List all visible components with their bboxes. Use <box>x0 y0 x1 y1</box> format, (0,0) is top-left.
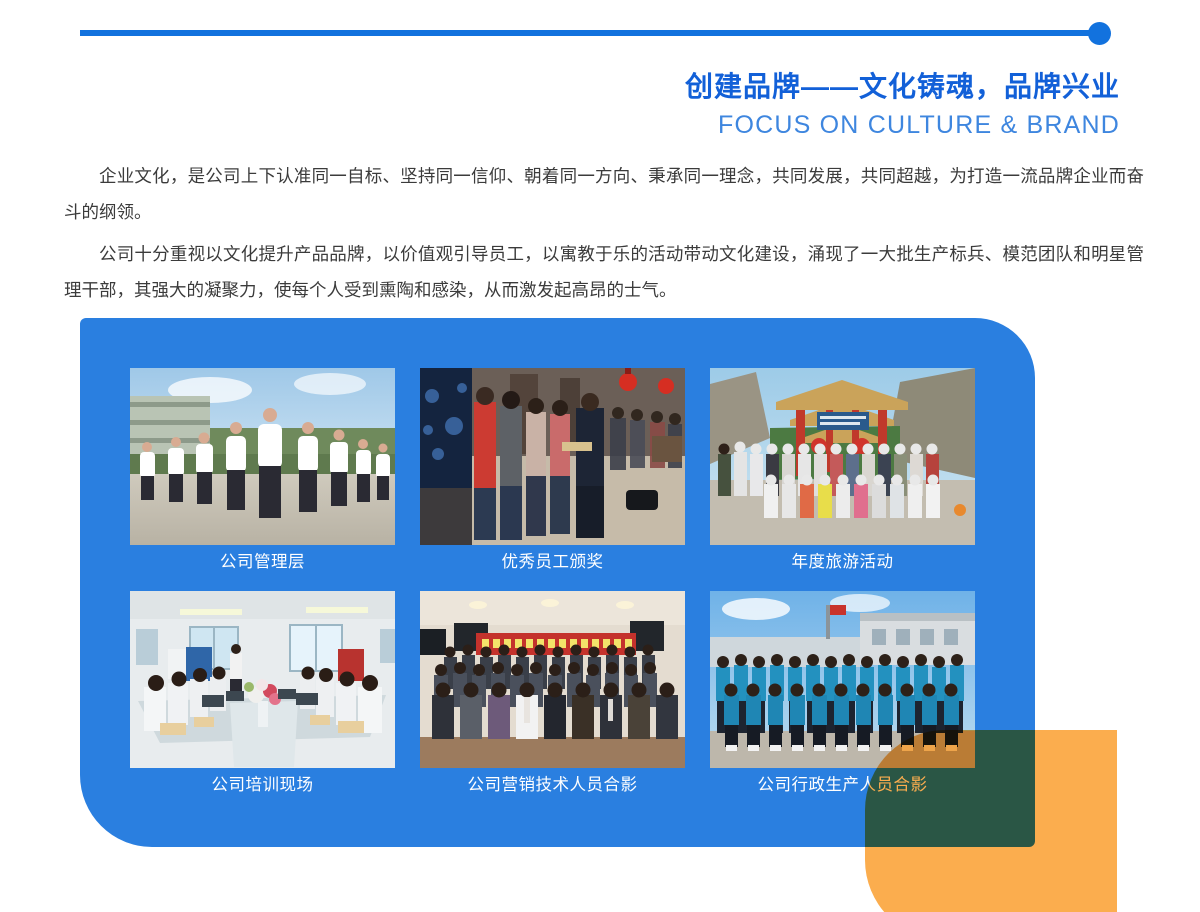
page-title: 创建品牌——文化铸魂，品牌兴业 FOCUS ON CULTURE & BRAND <box>80 68 1120 142</box>
paragraph-1: 企业文化，是公司上下认准同一自标、坚持同一信仰、朝着同一方向、秉承同一理念，共同… <box>64 158 1144 230</box>
gallery-caption: 公司营销技术人员合影 <box>420 768 685 802</box>
decorative-orange-shape <box>865 730 1117 912</box>
page-root: 创建品牌——文化铸魂，品牌兴业 FOCUS ON CULTURE & BRAND… <box>0 0 1200 912</box>
gallery-item[interactable]: 公司管理层 <box>130 368 395 579</box>
gallery-caption: 优秀员工颁奖 <box>420 545 685 579</box>
paragraph-2: 公司十分重视以文化提升产品品牌，以价值观引导员工，以寓教于乐的活动带动文化建设，… <box>64 236 1144 308</box>
title-english: FOCUS ON CULTURE & BRAND <box>80 108 1120 142</box>
photo-company-management[interactable] <box>130 368 395 545</box>
top-rule <box>80 30 1100 36</box>
gallery-caption: 公司管理层 <box>130 545 395 579</box>
gallery-item[interactable]: 公司营销技术人员合影 <box>420 591 685 802</box>
gallery-caption: 年度旅游活动 <box>710 545 975 579</box>
title-chinese: 创建品牌——文化铸魂，品牌兴业 <box>80 68 1120 106</box>
photo-employee-award[interactable] <box>420 368 685 545</box>
photo-annual-trip[interactable] <box>710 368 975 545</box>
gallery-item[interactable]: 公司培训现场 <box>130 591 395 802</box>
body-copy: 企业文化，是公司上下认准同一自标、坚持同一信仰、朝着同一方向、秉承同一理念，共同… <box>64 158 1144 314</box>
gallery-caption: 公司培训现场 <box>130 768 395 802</box>
photo-training-session[interactable] <box>130 591 395 768</box>
photo-sales-tech-group[interactable] <box>420 591 685 768</box>
decorative-dot-icon <box>1088 22 1111 45</box>
gallery-grid: 公司管理层 <box>130 368 975 802</box>
gallery-item[interactable]: 优秀员工颁奖 <box>420 368 685 579</box>
gallery-item[interactable]: 年度旅游活动 <box>710 368 975 579</box>
